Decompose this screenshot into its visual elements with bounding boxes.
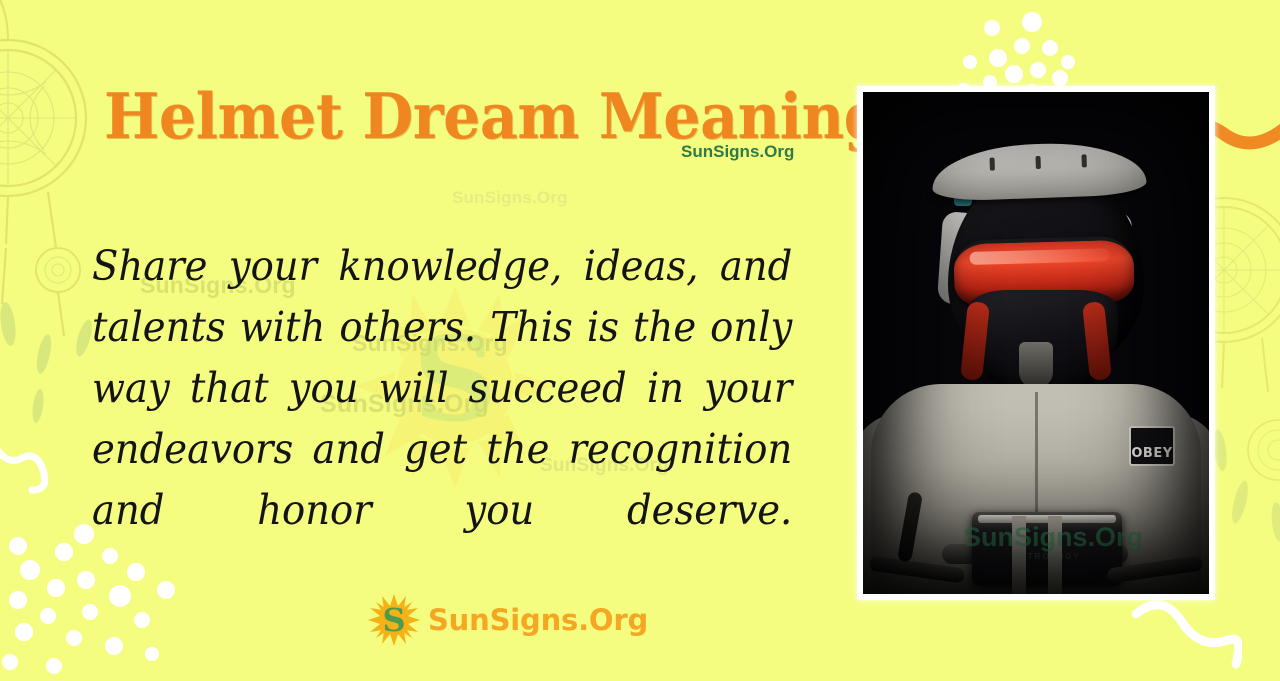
body-paragraph: Share your knowledge, ideas, and talents…: [92, 236, 792, 602]
squiggle-left-decoration: [0, 440, 64, 500]
watermark-text: SunSigns.Org: [452, 188, 568, 208]
poster-canvas: S SunSigns.Org SunSigns.Org: [0, 0, 1280, 681]
squiggle-bottom-right-decoration: [1132, 600, 1242, 681]
title-watermark: SunSigns.Org: [681, 142, 794, 162]
title-block: Helmet Dream Meaning SunSigns.Org: [104, 80, 834, 152]
photo-frame: OBEY SunSigns.Org ASTROLOGY: [857, 86, 1215, 600]
helmet-photo: OBEY SunSigns.Org ASTROLOGY: [863, 92, 1209, 594]
svg-text:S: S: [382, 601, 405, 639]
footer-logo[interactable]: S SunSigns.Org: [368, 594, 648, 646]
photo-vignette: [863, 92, 1209, 594]
sunsigns-sun-logo-icon: S: [368, 594, 420, 646]
footer-brand-text: SunSigns.Org: [428, 603, 648, 637]
